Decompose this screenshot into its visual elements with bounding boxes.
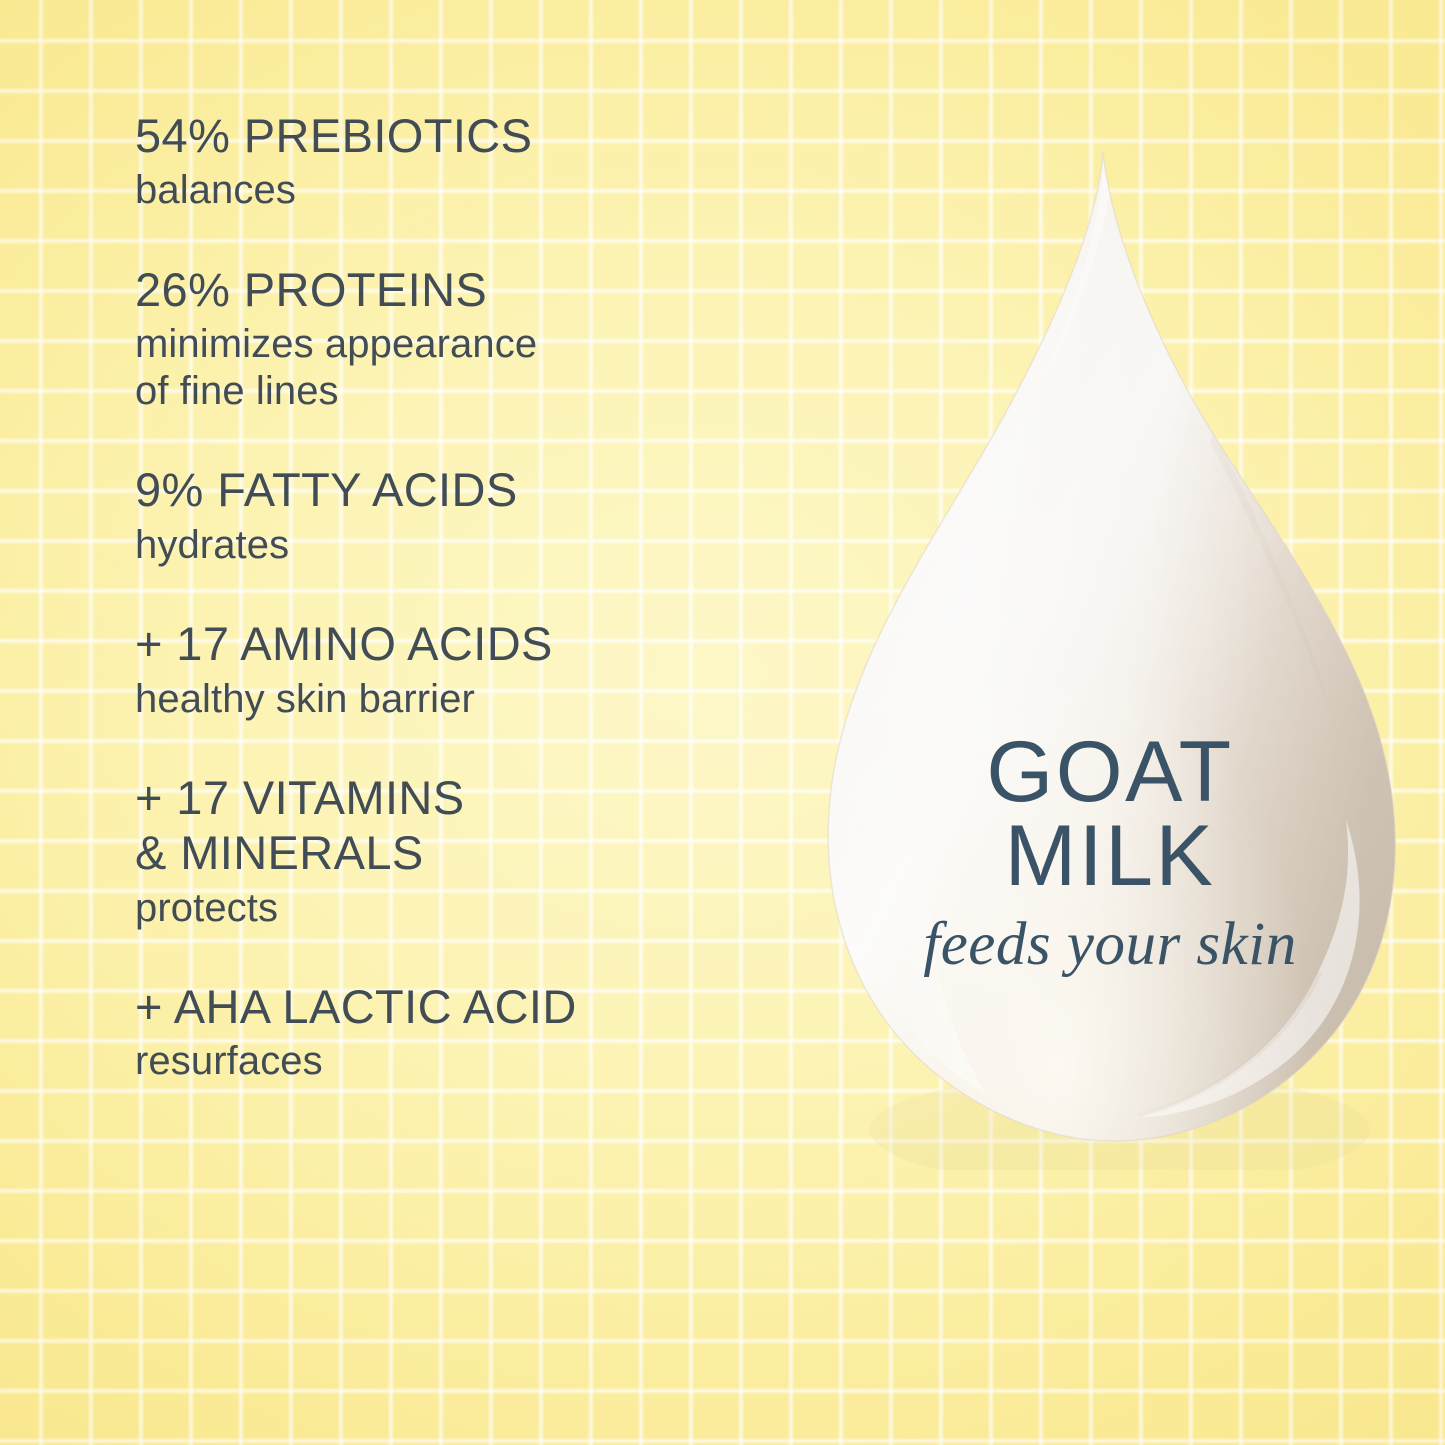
ingredient-item: 26% PROTEINS minimizes appearance of fin… [135,262,835,416]
ingredient-benefit: balances [135,167,835,214]
product-ingredient-poster: 54% PREBIOTICS balances 26% PROTEINS min… [0,0,1445,1445]
ingredient-list: 54% PREBIOTICS balances 26% PROTEINS min… [135,108,835,1085]
ingredient-benefit: resurfaces [135,1038,835,1085]
ingredient-item: 54% PREBIOTICS balances [135,108,835,215]
ingredient-benefit: healthy skin barrier [135,676,835,723]
ingredient-benefit: minimizes appearance of fine lines [135,321,835,415]
ingredient-headline: 26% PROTEINS [135,262,835,317]
ingredient-item: + 17 AMINO ACIDS healthy skin barrier [135,616,835,723]
ingredient-benefit: hydrates [135,522,835,569]
ingredient-item: 9% FATTY ACIDS hydrates [135,462,835,569]
ingredient-benefit: protects [135,885,835,932]
ingredient-headline: 9% FATTY ACIDS [135,462,835,517]
ingredient-headline: + 17 VITAMINS & MINERALS [135,770,835,881]
ingredient-headline: + 17 AMINO ACIDS [135,616,835,671]
ingredient-headline: 54% PREBIOTICS [135,108,835,163]
ingredient-headline: + AHA LACTIC ACID [135,979,835,1034]
ingredient-item: + AHA LACTIC ACID resurfaces [135,979,835,1086]
milk-droplet-graphic: GOAT MILK feeds your skin [790,130,1430,1170]
droplet-icon [790,130,1430,1170]
ingredient-item: + 17 VITAMINS & MINERALS protects [135,770,835,932]
